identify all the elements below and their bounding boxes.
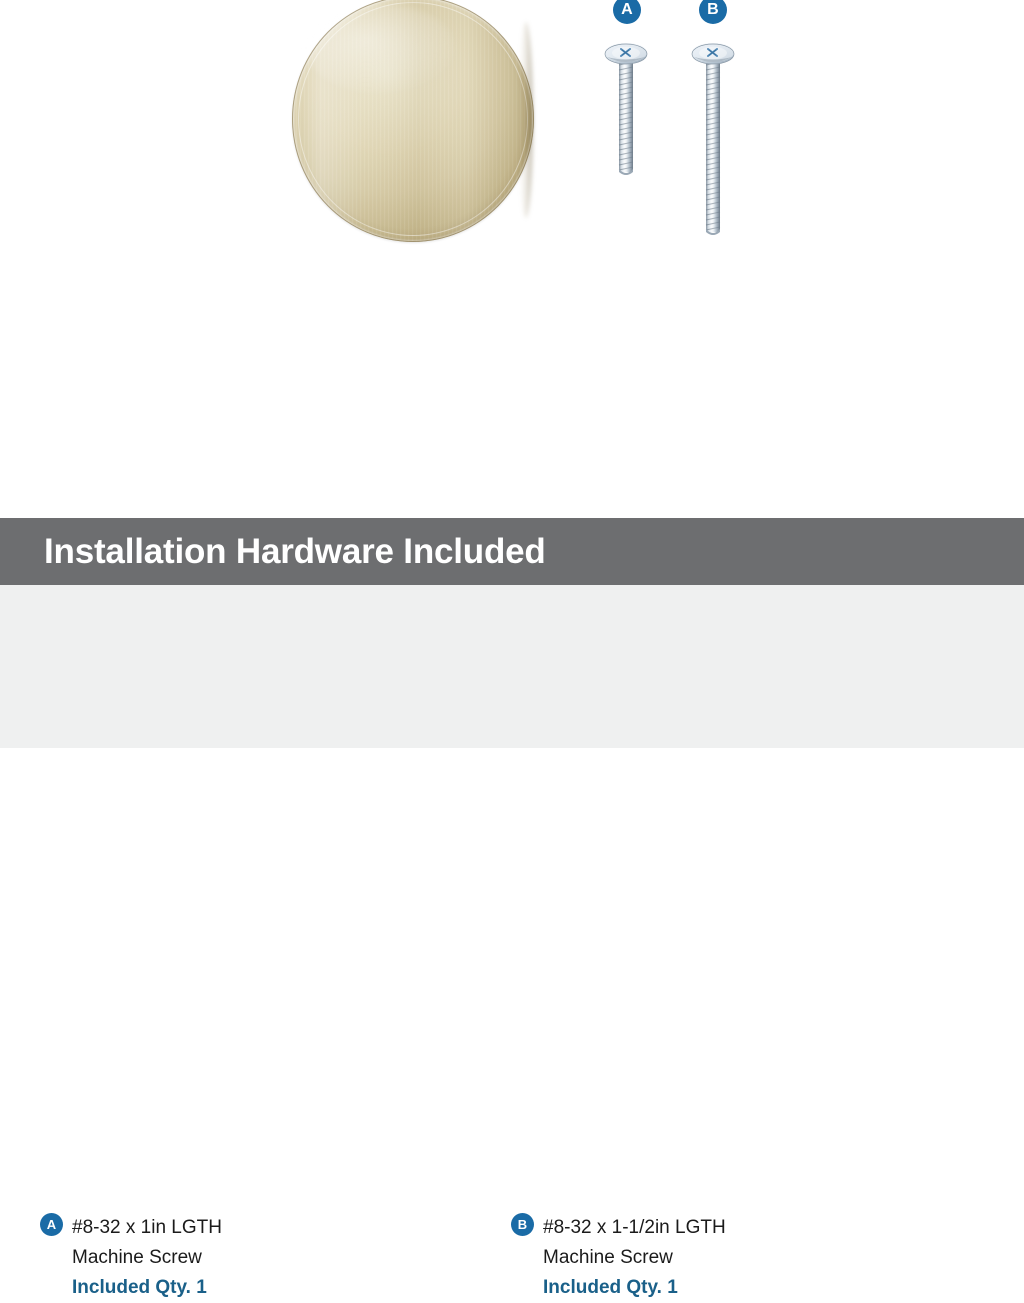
hardware-type: Machine Screw xyxy=(543,1243,726,1273)
cabinet-knob-image xyxy=(292,0,534,244)
callout-badge-a: A xyxy=(613,0,641,24)
hardware-badge-a: A xyxy=(40,1213,63,1236)
hardware-list-item: B #8-32 x 1-1/2in LGTH Machine Screw Inc… xyxy=(511,1213,726,1303)
callout-badge-b: B xyxy=(699,0,727,24)
product-image-stage: A B xyxy=(0,0,1024,518)
hardware-badge-b: B xyxy=(511,1213,534,1236)
knob-rim xyxy=(292,0,534,242)
hardware-item-b-text: #8-32 x 1-1/2in LGTH Machine Screw Inclu… xyxy=(543,1213,726,1303)
hardware-item-a-text: #8-32 x 1in LGTH Machine Screw Included … xyxy=(72,1213,222,1303)
machine-screw-b-icon xyxy=(688,38,738,238)
hardware-quantity: Included Qty. 1 xyxy=(72,1273,222,1303)
hardware-list-item: A #8-32 x 1in LGTH Machine Screw Include… xyxy=(40,1213,222,1303)
hardware-quantity: Included Qty. 1 xyxy=(543,1273,726,1303)
hardware-spec: #8-32 x 1in LGTH xyxy=(72,1213,222,1243)
machine-screw-a-icon xyxy=(601,38,651,178)
hardware-list-panel: A #8-32 x 1in LGTH Machine Screw Include… xyxy=(0,585,1024,748)
hardware-spec: #8-32 x 1-1/2in LGTH xyxy=(543,1213,726,1243)
installation-hardware-header: Installation Hardware Included xyxy=(0,518,1024,585)
page-title: Installation Hardware Included xyxy=(0,532,546,572)
hardware-type: Machine Screw xyxy=(72,1243,222,1273)
